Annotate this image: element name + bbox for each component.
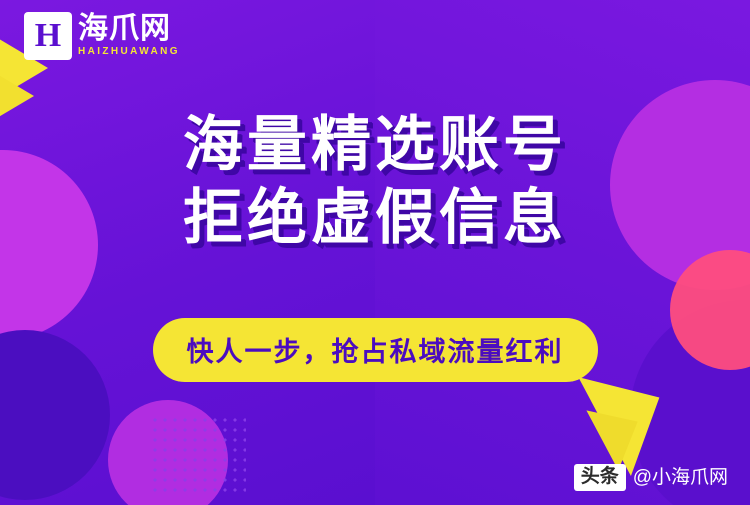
headline-block: 海量精选账号 拒绝虚假信息 <box>0 108 750 254</box>
watermark-platform-badge: 头条 <box>574 464 626 491</box>
watermark-account: @小海爪网 <box>633 466 728 490</box>
logo-text-block: 海爪网 HAIZHUAWANG <box>78 13 180 60</box>
watermark: 头条 @小海爪网 <box>574 464 728 491</box>
subheadline-pill: 快人一步，抢占私域流量红利 <box>153 318 598 382</box>
site-logo[interactable]: H 海爪网 HAIZHUAWANG <box>24 12 180 60</box>
logo-mark-letter: H <box>35 19 61 53</box>
subheadline-block: 快人一步，抢占私域流量红利 <box>0 318 750 382</box>
headline-line-2: 拒绝虚假信息 <box>0 181 750 254</box>
logo-mark-icon: H <box>24 12 72 60</box>
logo-name-cn: 海爪网 <box>78 13 180 45</box>
headline-line-1: 海量精选账号 <box>0 108 750 181</box>
promo-banner: H 海爪网 HAIZHUAWANG 海量精选账号 拒绝虚假信息 快人一步，抢占私… <box>0 0 750 505</box>
logo-name-en: HAIZHUAWANG <box>78 45 180 59</box>
dot-pattern-decoration <box>150 415 246 495</box>
